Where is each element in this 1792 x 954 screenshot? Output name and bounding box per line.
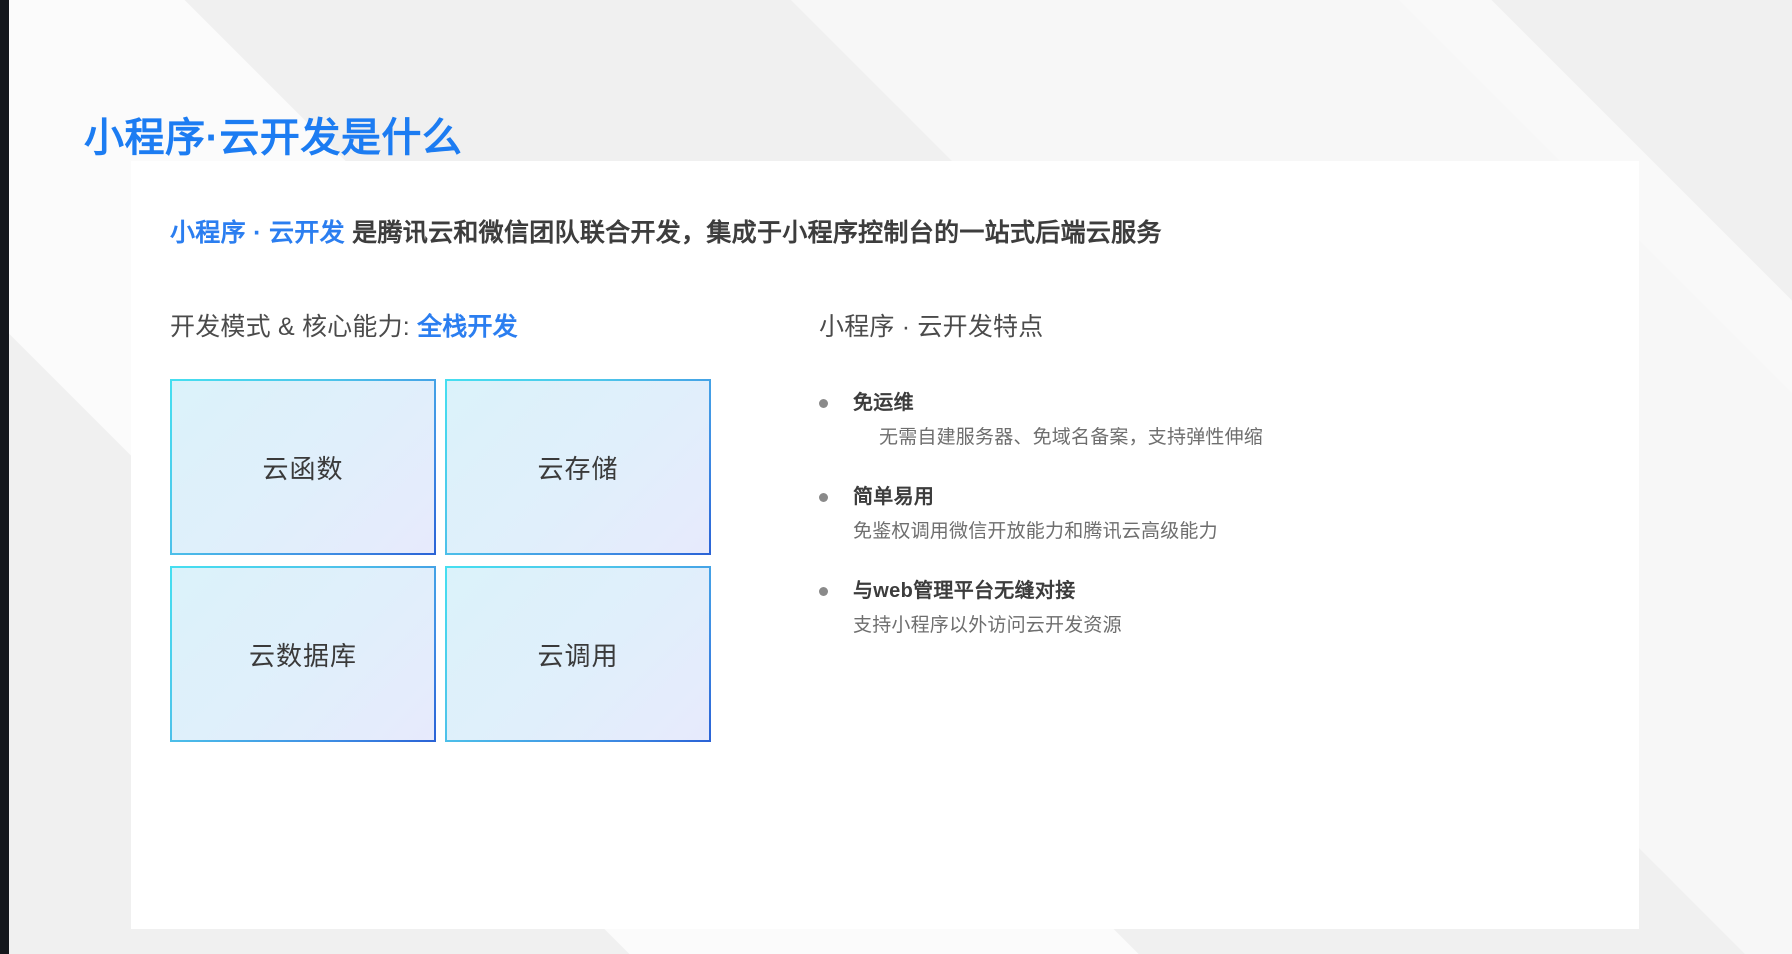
feature-title: 免运维: [853, 389, 1579, 417]
feature-title: 简单易用: [853, 483, 1579, 511]
slide-canvas: 小程序·云开发是什么 小程序 · 云开发 是腾讯云和微信团队联合开发，集成于小程…: [0, 0, 1792, 954]
right-column: 小程序 · 云开发特点 免运维 无需自建服务器、免域名备案，支持弹性伸缩 简单易…: [819, 307, 1579, 671]
feature-item-easy-to-use: 简单易用 免鉴权调用微信开放能力和腾讯云高级能力: [819, 483, 1579, 547]
feature-description: 免鉴权调用微信开放能力和腾讯云高级能力: [853, 517, 1579, 547]
lead-brand-label: 小程序 · 云开发: [170, 219, 345, 247]
bullet-dot-icon: [819, 587, 828, 596]
bullet-dot-icon: [819, 399, 828, 408]
left-column: 开发模式 & 核心能力: 全栈开发 云函数 云存储 云数据库 云调用: [170, 307, 810, 742]
lead-sentence: 小程序 · 云开发 是腾讯云和微信团队联合开发，集成于小程序控制台的一站式后端云…: [170, 213, 1162, 249]
content-card: 小程序 · 云开发 是腾讯云和微信团队联合开发，集成于小程序控制台的一站式后端云…: [131, 161, 1639, 929]
left-column-heading-accent: 全栈开发: [417, 313, 518, 341]
capability-label: 云存储: [537, 449, 618, 486]
feature-item-ops-free: 免运维 无需自建服务器、免域名备案，支持弹性伸缩: [819, 389, 1579, 453]
feature-item-web-console-integration: 与web管理平台无缝对接 支持小程序以外访问云开发资源: [819, 577, 1579, 641]
capability-box-cloud-database[interactable]: 云数据库: [170, 566, 436, 742]
feature-title: 与web管理平台无缝对接: [853, 577, 1579, 605]
left-column-heading-prefix: 开发模式 & 核心能力:: [170, 313, 417, 341]
bullet-dot-icon: [819, 493, 828, 502]
right-column-heading: 小程序 · 云开发特点: [819, 307, 1579, 343]
feature-description: 支持小程序以外访问云开发资源: [853, 611, 1579, 641]
capability-box-cloud-call[interactable]: 云调用: [445, 566, 711, 742]
capability-label: 云调用: [537, 636, 618, 673]
capability-grid: 云函数 云存储 云数据库 云调用: [170, 379, 711, 742]
feature-description: 无需自建服务器、免域名备案，支持弹性伸缩: [879, 423, 1579, 453]
feature-list: 免运维 无需自建服务器、免域名备案，支持弹性伸缩 简单易用 免鉴权调用微信开放能…: [819, 389, 1579, 641]
capability-label: 云数据库: [249, 636, 357, 673]
capability-box-cloud-function[interactable]: 云函数: [170, 379, 436, 555]
capability-box-cloud-storage[interactable]: 云存储: [445, 379, 711, 555]
page-title: 小程序·云开发是什么: [84, 105, 462, 163]
lead-rest-text: 是腾讯云和微信团队联合开发，集成于小程序控制台的一站式后端云服务: [345, 219, 1162, 247]
left-column-heading: 开发模式 & 核心能力: 全栈开发: [170, 307, 810, 343]
capability-label: 云函数: [262, 449, 343, 486]
left-edge-accent-bar: [0, 0, 9, 954]
